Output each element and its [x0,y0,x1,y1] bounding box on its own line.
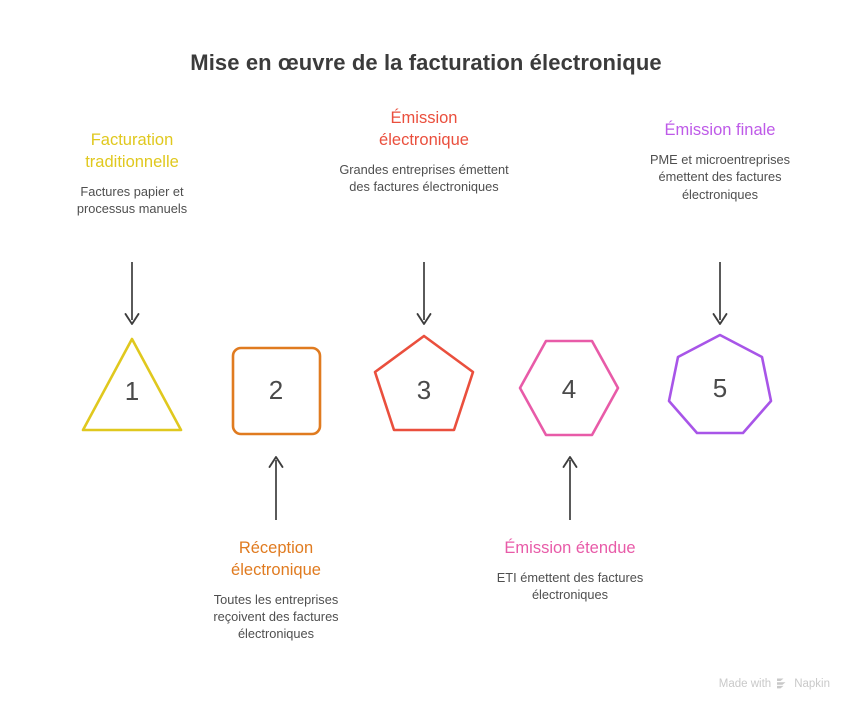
step-label-title-2: Réception électronique [166,538,386,582]
step-shape-1: 1 [77,333,187,443]
step-label-title-1: Facturation traditionnelle [22,130,242,174]
step-number-5: 5 [665,373,775,404]
step-label-line2-1: traditionnelle [22,152,242,174]
watermark-brand: Napkin [794,678,830,690]
step-shape-3: 3 [369,331,479,441]
step-shape-4: 4 [514,334,624,444]
step-description-1: Factures papier et processus manuels [22,183,242,218]
step-label-block-3: Émission électronique Grandes entreprise… [314,108,534,195]
step-label-title-3: Émission électronique [314,108,534,152]
step-number-4: 4 [514,374,624,405]
napkin-chevron-logo-icon [776,677,789,690]
step-description-5: PME et microentreprises émettent des fac… [610,151,830,203]
step-description-3: Grandes entreprises émettent des facture… [314,161,534,196]
step-label-block-1: Facturation traditionnelle Factures papi… [22,130,242,217]
step-shape-5: 5 [665,331,775,441]
step-label-block-2: Réception électronique Toutes les entrep… [166,538,386,643]
step-label-line1-1: Facturation [22,130,242,152]
step-label-line1-2: Réception [166,538,386,560]
step-label-block-4: Émission étendue ETI émettent des factur… [460,538,680,604]
step-shape-2: 2 [221,337,331,447]
page-title: Mise en œuvre de la facturation électron… [0,50,852,76]
step-label-line1-4: Émission étendue [460,538,680,560]
step-label-line2-2: électronique [166,560,386,582]
step-label-title-5: Émission finale [610,120,830,142]
step-arrow-up-4 [562,452,578,520]
step-arrow-down-1 [124,262,140,330]
step-description-4: ETI émettent des factures électroniques [460,569,680,604]
watermark-prefix: Made with [719,678,771,690]
step-arrow-down-5 [712,262,728,330]
step-label-block-5: Émission finale PME et microentreprises … [610,120,830,203]
step-label-line2-3: électronique [314,130,534,152]
step-number-2: 2 [221,375,331,406]
step-number-3: 3 [369,375,479,406]
step-arrow-down-3 [416,262,432,330]
napkin-watermark: Made with Napkin [719,677,830,690]
step-description-2: Toutes les entreprises reçoivent des fac… [166,591,386,643]
diagram-canvas: Mise en œuvre de la facturation électron… [0,0,852,708]
step-label-title-4: Émission étendue [460,538,680,560]
step-arrow-up-2 [268,452,284,520]
step-number-1: 1 [77,376,187,407]
step-label-line1-5: Émission finale [610,120,830,142]
step-label-line1-3: Émission [314,108,534,130]
